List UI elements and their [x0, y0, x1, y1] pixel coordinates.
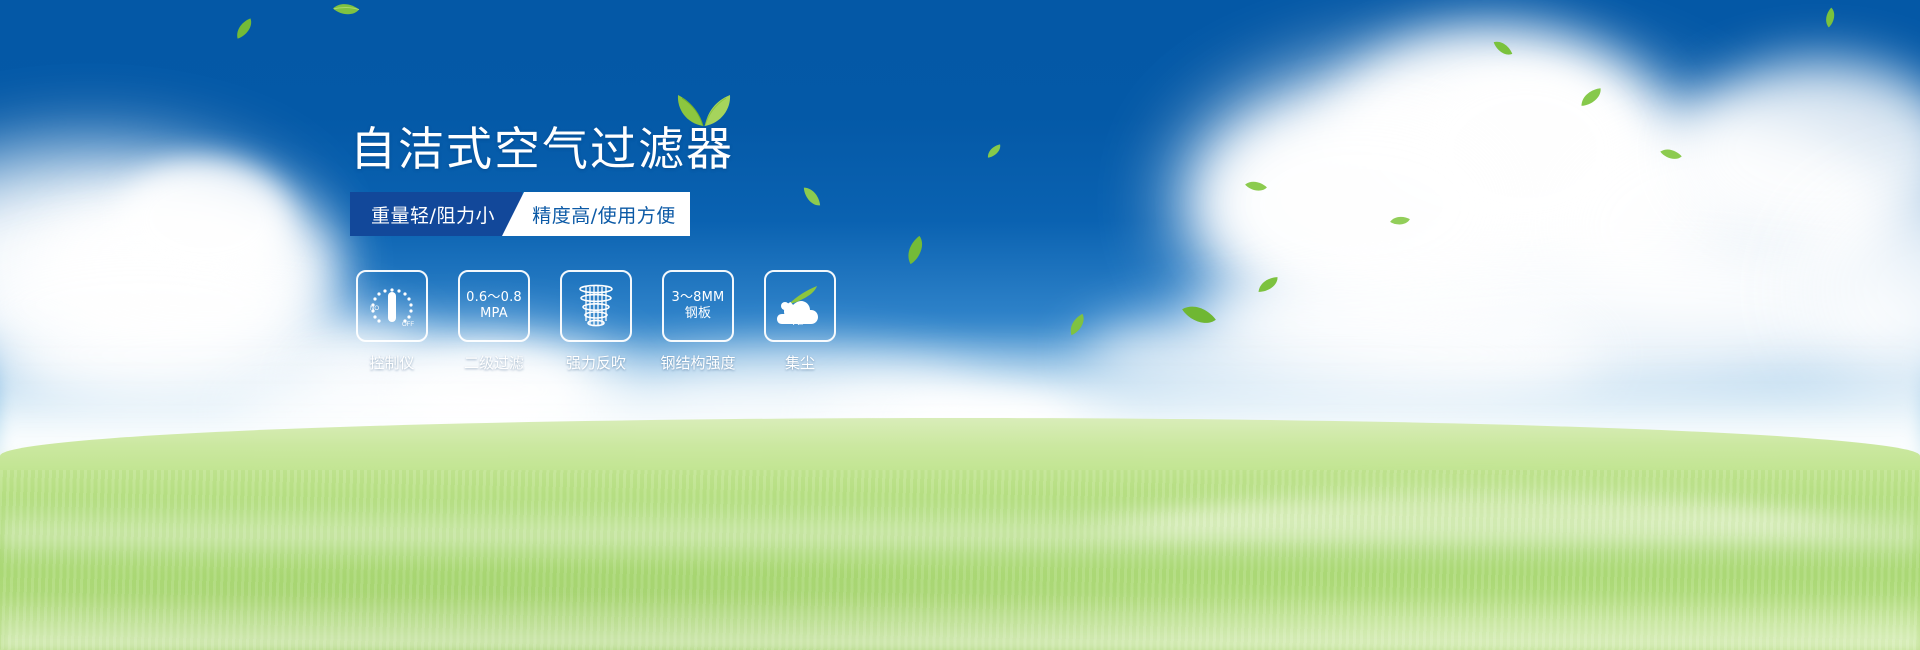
feature-caption: 控制仪 — [369, 352, 414, 373]
blowback-coil-icon — [572, 281, 620, 331]
pressure-text-icon: 0.6～0.8 MPA — [466, 290, 522, 322]
svg-text:OFF: OFF — [402, 322, 414, 328]
pressure-unit: MPA — [466, 306, 522, 322]
page-title: 自洁式空气过滤器 — [350, 119, 734, 179]
product-banner: 自洁式空气过滤器 重量轻/阻力小 精度高/使用方便 — [0, 0, 1920, 650]
feature-icon-box: 3～8MM 钢板 — [662, 270, 734, 342]
control-dial-icon: NO OFF — [366, 282, 418, 330]
feature-caption: 二级过滤 — [464, 352, 524, 373]
feature-tag-group: 重量轻/阻力小 精度高/使用方便 — [350, 192, 690, 236]
feature-caption: 强力反吹 — [566, 352, 626, 373]
feature-item-blowback[interactable]: 强力反吹 — [560, 270, 632, 373]
steel-plate-text-icon: 3～8MM 钢板 — [672, 290, 725, 322]
feature-icon-box — [560, 270, 632, 342]
feature-item-steel[interactable]: 3～8MM 钢板 钢结构强度 — [662, 270, 734, 373]
tag-precision-convenience[interactable]: 精度高/使用方便 — [502, 192, 690, 236]
air-label: Air — [793, 317, 804, 327]
feature-item-control[interactable]: NO OFF 控制仪 — [356, 270, 428, 373]
pressure-value: 0.6～0.8 — [466, 290, 522, 306]
banner-content: 自洁式空气过滤器 重量轻/阻力小 精度高/使用方便 — [0, 0, 1920, 650]
feature-caption: 钢结构强度 — [661, 352, 736, 373]
feature-icon-list: NO OFF 控制仪 0.6～0.8 MPA 二级过滤 — [356, 270, 836, 373]
tag-weight-resistance[interactable]: 重量轻/阻力小 — [350, 192, 522, 236]
air-cloud-icon: Air — [773, 284, 827, 328]
feature-icon-box: NO OFF — [356, 270, 428, 342]
feature-icon-box: Air — [764, 270, 836, 342]
feature-caption: 集尘 — [785, 352, 815, 373]
feature-item-pressure[interactable]: 0.6～0.8 MPA 二级过滤 — [458, 270, 530, 373]
svg-text:NO: NO — [370, 306, 379, 312]
steel-thickness: 3～8MM — [672, 290, 725, 306]
steel-material: 钢板 — [672, 306, 725, 322]
feature-item-dust[interactable]: Air 集尘 — [764, 270, 836, 373]
feature-icon-box: 0.6～0.8 MPA — [458, 270, 530, 342]
